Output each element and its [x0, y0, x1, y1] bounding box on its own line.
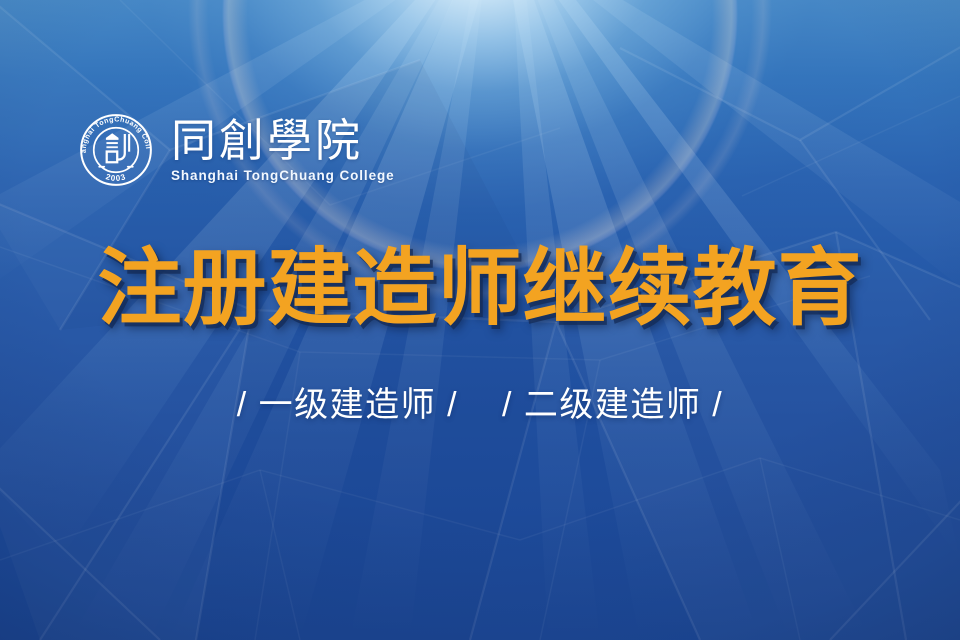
logo-wordmark: 同創學院 Shanghai TongChuang College — [171, 116, 395, 185]
logo-wordmark-en: Shanghai TongChuang College — [171, 167, 395, 185]
banner-content: Shanghai TongChuang College 2003 — [0, 0, 960, 640]
promo-banner: Shanghai TongChuang College 2003 — [0, 0, 960, 640]
svg-text:2003: 2003 — [105, 172, 128, 183]
page-title: 注册建造师继续教育 — [0, 240, 960, 336]
college-seal-icon: Shanghai TongChuang College 2003 — [74, 108, 158, 192]
subtitle: / 一级建造师 / / 二级建造师 / — [0, 383, 960, 427]
subtitle-item-level-one: / 一级建造师 / — [237, 386, 458, 424]
subtitle-item-level-two: / 二级建造师 / — [502, 386, 723, 424]
logo-wordmark-cn: 同創學院 — [171, 116, 395, 166]
logo-lockup[interactable]: Shanghai TongChuang College 2003 — [74, 108, 395, 192]
